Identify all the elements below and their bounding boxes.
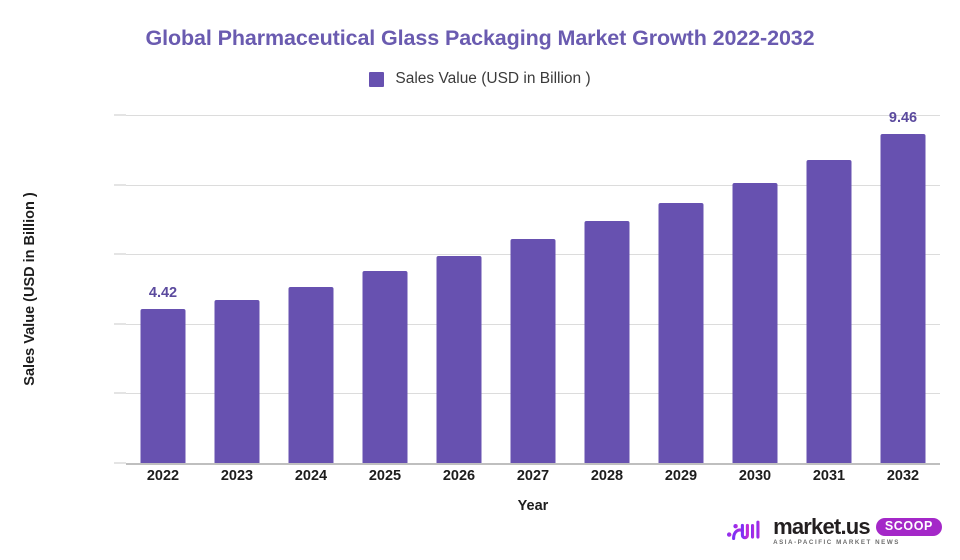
chart-legend: Sales Value (USD in Billion ) [0, 70, 960, 88]
page-title: Global Pharmaceutical Glass Packaging Ma… [0, 26, 960, 51]
x-tick-label: 2028 [591, 468, 623, 484]
x-tick-label: 2027 [517, 468, 549, 484]
x-tick-label: 2029 [665, 468, 697, 484]
x-tick-label: 2032 [887, 468, 919, 484]
bar[interactable] [881, 134, 926, 463]
y-tick-mark [114, 393, 126, 394]
bar-slot [422, 115, 496, 463]
chart-canvas: Global Pharmaceutical Glass Packaging Ma… [0, 0, 960, 560]
bar-slot [792, 115, 866, 463]
bar-value-label: 4.42 [149, 285, 177, 301]
bar-slot [200, 115, 274, 463]
bar-slot [570, 115, 644, 463]
bar[interactable] [437, 256, 482, 463]
logo-badge-scoop: SCOOP [876, 518, 942, 536]
market-us-logo-icon [726, 518, 766, 544]
x-tick-label: 2022 [147, 468, 179, 484]
bar[interactable] [215, 300, 260, 463]
bar[interactable] [659, 203, 704, 463]
bar-slot [496, 115, 570, 463]
logo-tagline: ASIA-PACIFIC MARKET NEWS [773, 540, 942, 546]
logo-wordmark: market.us [773, 516, 870, 538]
x-tick-label: 2024 [295, 468, 327, 484]
x-axis-ticks: 2022202320242025202620272028202920302031… [126, 468, 940, 494]
bar-slot [348, 115, 422, 463]
y-tick-mark [114, 323, 126, 324]
x-axis-title: Year [126, 498, 940, 514]
bar[interactable] [807, 160, 852, 463]
bar-slot: 9.46 [866, 115, 940, 463]
y-tick-mark [114, 115, 126, 116]
gridline [126, 463, 940, 465]
bar-slot [644, 115, 718, 463]
bar[interactable] [289, 287, 334, 463]
x-tick-label: 2030 [739, 468, 771, 484]
x-tick-label: 2031 [813, 468, 845, 484]
logo-row: market.us SCOOP [773, 516, 942, 538]
x-tick-label: 2026 [443, 468, 475, 484]
x-tick-label: 2025 [369, 468, 401, 484]
y-axis-title: Sales Value (USD in Billion ) [22, 192, 38, 385]
bar-series-sales-value: 4.429.46 [126, 115, 940, 463]
legend-swatch-sales-value [369, 72, 384, 87]
bar[interactable] [363, 271, 408, 463]
bar-slot: 4.42 [126, 115, 200, 463]
y-tick-mark [114, 254, 126, 255]
bar[interactable] [141, 309, 186, 463]
bar[interactable] [585, 221, 630, 463]
plot-area: 0.002.004.006.008.0010.00 4.429.46 [126, 115, 940, 463]
bar[interactable] [733, 183, 778, 463]
logo-text: market.us SCOOP ASIA-PACIFIC MARKET NEWS [773, 516, 942, 546]
x-tick-label: 2023 [221, 468, 253, 484]
y-tick-mark [114, 463, 126, 464]
bar-slot [274, 115, 348, 463]
bar[interactable] [511, 239, 556, 463]
bar-slot [718, 115, 792, 463]
y-tick-mark [114, 184, 126, 185]
brand-logo[interactable]: market.us SCOOP ASIA-PACIFIC MARKET NEWS [726, 514, 942, 548]
bar-value-label: 9.46 [889, 110, 917, 126]
legend-label-sales-value: Sales Value (USD in Billion ) [395, 70, 590, 88]
